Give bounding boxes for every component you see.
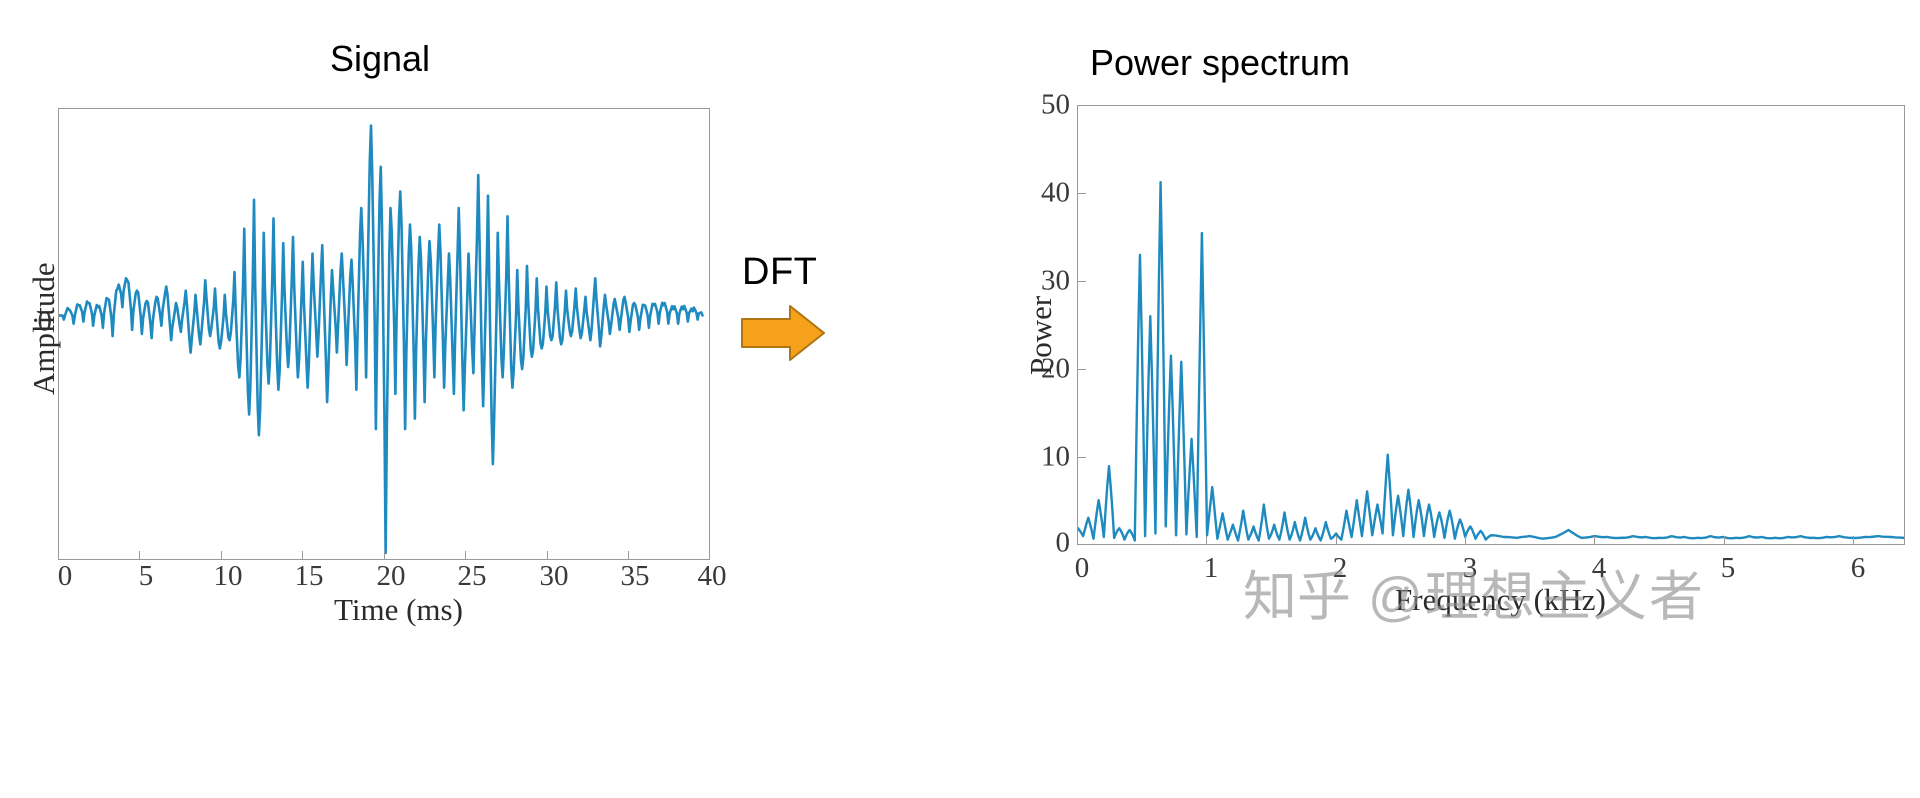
spectrum-ytick-10: [1077, 457, 1086, 458]
spectrum-yaxis-title: Power: [1023, 296, 1059, 375]
power-spectrum-svg: [1078, 106, 1904, 544]
signal-plot-axes: [58, 108, 710, 560]
signal-xtick-15: [302, 551, 303, 560]
right-arrow-icon: [740, 303, 826, 363]
spectrum-xticklabel-5: 5: [1721, 552, 1736, 585]
signal-xticklabel-25: 25: [458, 560, 487, 593]
signal-xtick-35: [628, 551, 629, 560]
spectrum-xaxis-title: Frequency (kHz): [1395, 582, 1606, 618]
spectrum-xticklabel-3: 3: [1463, 552, 1478, 585]
power-spectrum-plot-axes: [1077, 105, 1905, 545]
signal-xtick-10: [221, 551, 222, 560]
dft-label: DFT: [742, 251, 817, 294]
signal-xaxis-title: Time (ms): [334, 592, 463, 628]
spectrum-xtick-6: [1853, 536, 1854, 545]
power-spectrum-plot-title: Power spectrum: [950, 42, 1490, 84]
spectrum-yticklabel-40: 40: [1022, 177, 1070, 210]
spectrum-xtick-2: [1336, 536, 1337, 545]
spectrum-xtick-0: [1077, 536, 1078, 545]
spectrum-xtick-3: [1465, 536, 1466, 545]
signal-plot-title: Signal: [200, 38, 560, 80]
spectrum-ytick-20: [1077, 369, 1086, 370]
spectrum-xticklabel-6: 6: [1851, 552, 1866, 585]
signal-xtick-5: [139, 551, 140, 560]
spectrum-xtick-1: [1206, 536, 1207, 545]
signal-xticklabel-20: 20: [377, 560, 406, 593]
signal-xticklabel-30: 30: [540, 560, 569, 593]
signal-xticklabel-35: 35: [621, 560, 650, 593]
spectrum-ytick-40: [1077, 193, 1086, 194]
spectrum-yticklabel-10: 10: [1022, 441, 1070, 474]
spectrum-xtick-5: [1724, 536, 1725, 545]
signal-xticklabel-0: 0: [58, 560, 73, 593]
spectrum-xticklabel-2: 2: [1333, 552, 1348, 585]
signal-xticklabel-15: 15: [295, 560, 324, 593]
signal-yaxis-title: Amplitude: [26, 262, 62, 395]
signal-waveform-svg: [59, 109, 709, 559]
signal-xtick-0: [58, 551, 59, 560]
spectrum-yticklabel-0: 0: [1022, 527, 1070, 560]
signal-xtick-20: [384, 551, 385, 560]
signal-xticklabel-10: 10: [214, 560, 243, 593]
spectrum-xtick-4: [1594, 536, 1595, 545]
spectrum-ytick-30: [1077, 281, 1086, 282]
signal-xticklabel-5: 5: [139, 560, 154, 593]
spectrum-xticklabel-4: 4: [1592, 552, 1607, 585]
signal-xtick-25: [465, 551, 466, 560]
spectrum-yticklabel-50: 50: [1022, 89, 1070, 122]
signal-xticklabel-40: 40: [698, 560, 727, 593]
spectrum-yticklabel-30: 30: [1022, 265, 1070, 298]
spectrum-xticklabel-0: 0: [1075, 552, 1090, 585]
signal-xtick-30: [547, 551, 548, 560]
spectrum-xticklabel-1: 1: [1204, 552, 1219, 585]
